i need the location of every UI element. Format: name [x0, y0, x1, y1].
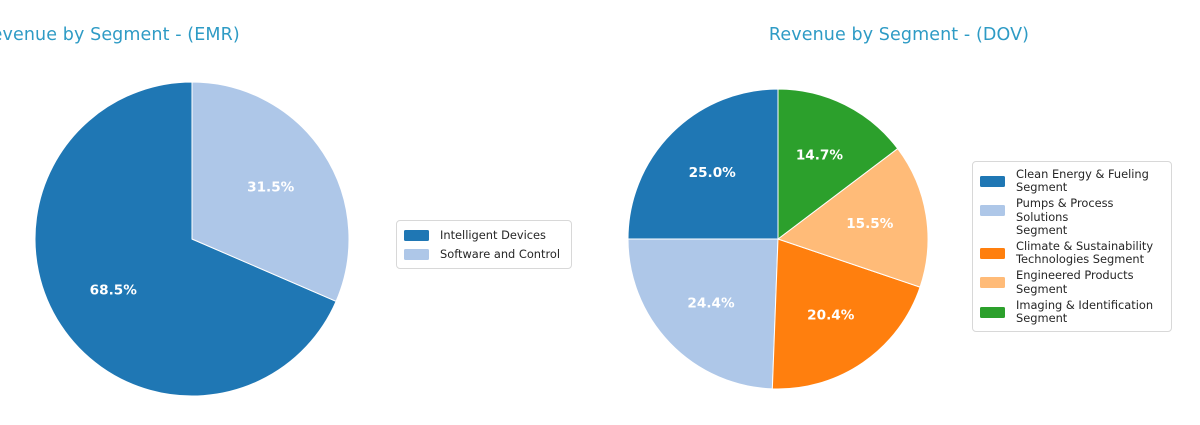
legend-color-swatch: [980, 307, 1005, 318]
legend-item[interactable]: Climate & Sustainability Technologies Se…: [980, 240, 1163, 266]
legend-emr: Intelligent DevicesSoftware and Control: [396, 220, 572, 269]
pie-svg-emr: 68.5%31.5%: [32, 79, 352, 399]
legend-item-label: Engineered Products Segment: [1016, 269, 1134, 295]
legend-item[interactable]: Clean Energy & Fueling Segment: [980, 168, 1163, 194]
legend-color-swatch: [980, 176, 1005, 187]
pie-chart-emr: 68.5%31.5%: [32, 79, 352, 399]
legend-item[interactable]: Software and Control: [404, 246, 563, 262]
legend-color-swatch: [404, 230, 429, 241]
pie-slice-percent-label: 68.5%: [90, 283, 138, 299]
legend-item[interactable]: Pumps & Process Solutions Segment: [980, 197, 1163, 237]
pie-slice-percent-label: 31.5%: [247, 179, 295, 195]
legend-dov: Clean Energy & Fueling SegmentPumps & Pr…: [972, 161, 1172, 332]
legend-item-label: Pumps & Process Solutions Segment: [1016, 197, 1163, 237]
legend-item-label: Intelligent Devices: [440, 228, 546, 243]
pie-slice-percent-label: 15.5%: [846, 216, 894, 232]
legend-item[interactable]: Imaging & Identification Segment: [980, 299, 1163, 325]
legend-item[interactable]: Engineered Products Segment: [980, 269, 1163, 295]
pie-slice-percent-label: 24.4%: [687, 296, 735, 312]
chart-panel-dov: Revenue by Segment - (DOV) 25.0%24.4%20.…: [600, 0, 1200, 425]
legend-color-swatch: [404, 249, 429, 260]
legend-color-swatch: [980, 277, 1005, 288]
legend-item-label: Climate & Sustainability Technologies Se…: [1016, 240, 1153, 266]
pie-slice: [628, 239, 778, 389]
chart-title-emr: Revenue by Segment - (EMR): [0, 25, 410, 45]
legend-item[interactable]: Intelligent Devices: [404, 227, 563, 243]
pie-svg-dov: 25.0%24.4%20.4%15.5%14.7%: [618, 79, 938, 399]
chart-title-dov: Revenue by Segment - (DOV): [599, 25, 1199, 45]
legend-color-swatch: [980, 205, 1005, 216]
pie-chart-dov: 25.0%24.4%20.4%15.5%14.7%: [618, 79, 938, 399]
chart-panel-emr: Revenue by Segment - (EMR) 68.5%31.5% In…: [0, 0, 600, 425]
legend-item-label: Software and Control: [440, 247, 560, 262]
legend-item-label: Imaging & Identification Segment: [1016, 299, 1153, 325]
pie-slice: [628, 89, 778, 239]
figure-canvas: Revenue by Segment - (EMR) 68.5%31.5% In…: [0, 0, 1200, 425]
legend-color-swatch: [980, 248, 1005, 259]
pie-slice-percent-label: 14.7%: [796, 148, 844, 164]
pie-slice-percent-label: 25.0%: [689, 165, 737, 181]
pie-slice-percent-label: 20.4%: [807, 308, 855, 324]
legend-item-label: Clean Energy & Fueling Segment: [1016, 168, 1149, 194]
